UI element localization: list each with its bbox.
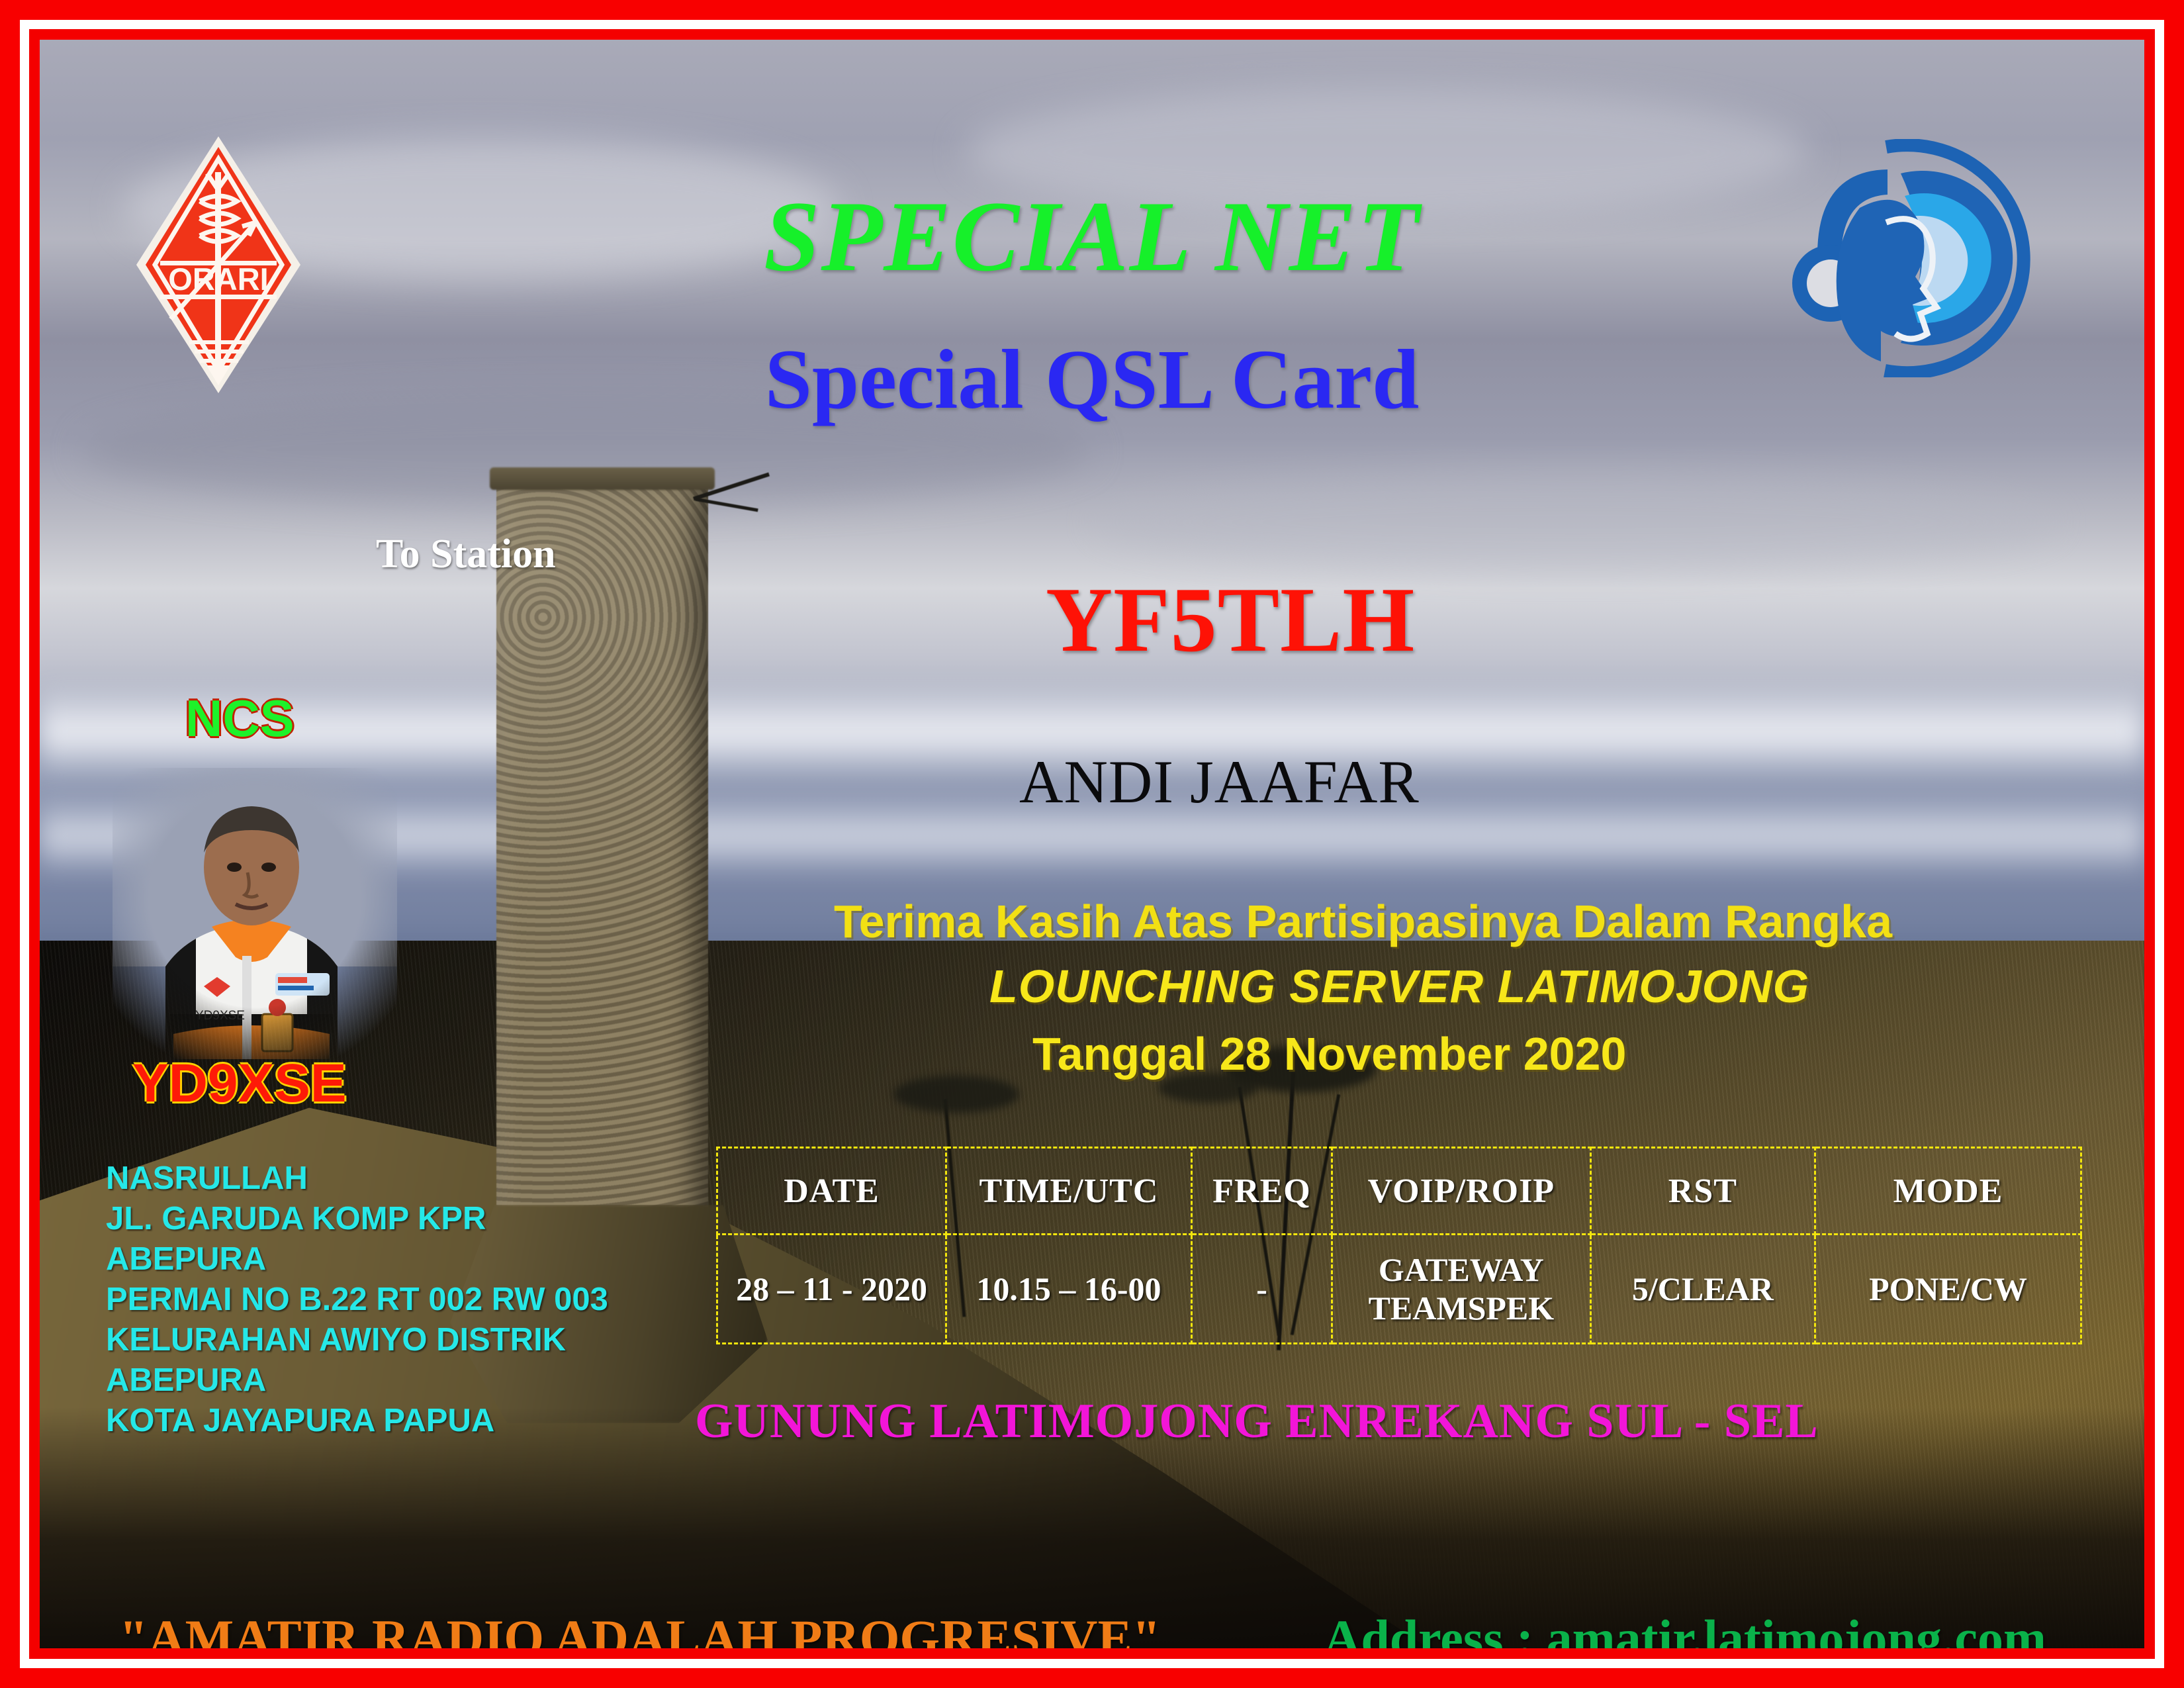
cloud-streak-icon xyxy=(1092,474,2060,571)
column-header-mode: MODE xyxy=(1815,1148,2081,1235)
thanks-line-2: LOUNCHING SERVER LATIMOJONG xyxy=(989,960,1809,1013)
address-line: PERMAI NO B.22 RT 002 RW 003 xyxy=(106,1280,608,1320)
address-block: NASRULLAH JL. GARUDA KOMP KPR ABEPURA PE… xyxy=(106,1158,608,1441)
address-line: ABEPURA xyxy=(106,1239,608,1280)
qso-log-table: DATE TIME/UTC FREQ VOIP/ROIP RST MODE 28… xyxy=(716,1147,2082,1344)
footer-slogan: "AMATIR RADIO ADALAH PROGRESIVE" xyxy=(119,1609,1161,1648)
qsl-card-outer-border: ORARI xyxy=(0,0,2184,1688)
station-callsign: YF5TLH xyxy=(1046,567,1415,673)
uniform-callsign-text: YD9XSE xyxy=(195,1009,245,1023)
operator-name: ANDI JAAFAR xyxy=(1019,747,1420,817)
thanks-line-3: Tanggal 28 November 2020 xyxy=(1032,1027,1626,1080)
to-station-label: To Station xyxy=(376,531,556,578)
qsl-card-inner-border: ORARI xyxy=(29,29,2155,1659)
qsl-card-white-gap: ORARI xyxy=(20,20,2164,1668)
cell-voip-roip-line2: TEAMSPEK xyxy=(1334,1289,1588,1327)
stone-pillar xyxy=(496,477,708,1258)
page-title: SPECIAL NET xyxy=(40,179,2144,294)
column-header-rst: RST xyxy=(1590,1148,1815,1235)
address-line: JL. GARUDA KOMP KPR xyxy=(106,1199,608,1239)
column-header-voip-roip: VOIP/ROIP xyxy=(1332,1148,1590,1235)
ncs-label: NCS xyxy=(185,688,295,749)
tree-canopy xyxy=(893,1076,1019,1113)
location-caption: GUNUNG LATIMOJONG ENREKANG SUL - SEL xyxy=(695,1393,1819,1450)
table-row: 28 – 11 - 2020 10.15 – 16-00 - GATEWAY T… xyxy=(717,1235,2081,1344)
cell-voip-roip-line1: GATEWAY xyxy=(1334,1250,1588,1289)
address-line: KOTA JAYAPURA PAPUA xyxy=(106,1401,608,1441)
footer-web-address: Address : amatir.latimojong.com xyxy=(1324,1609,2046,1648)
cell-date: 28 – 11 - 2020 xyxy=(717,1235,946,1344)
cell-voip-roip: GATEWAY TEAMSPEK xyxy=(1332,1235,1590,1344)
address-line: NASRULLAH xyxy=(106,1158,608,1199)
column-header-date: DATE xyxy=(717,1148,946,1235)
cell-rst: 5/CLEAR xyxy=(1590,1235,1815,1344)
address-line: ABEPURA xyxy=(106,1360,608,1401)
column-header-freq: FREQ xyxy=(1191,1148,1332,1235)
qsl-card-photo-background: ORARI xyxy=(40,40,2144,1648)
ncs-operator-photo: YD9XSE xyxy=(113,768,397,1059)
thanks-line-1: Terima Kasih Atas Partisipasinya Dalam R… xyxy=(834,895,1892,948)
address-line: KELURAHAN AWIYO DISTRIK xyxy=(106,1320,608,1360)
ncs-callsign: YD9XSE xyxy=(132,1053,347,1115)
page-subtitle: Special QSL Card xyxy=(40,331,2144,428)
cell-time: 10.15 – 16-00 xyxy=(946,1235,1192,1344)
column-header-time: TIME/UTC xyxy=(946,1148,1192,1235)
cell-mode: PONE/CW xyxy=(1815,1235,2081,1344)
cell-freq: - xyxy=(1191,1235,1332,1344)
table-header-row: DATE TIME/UTC FREQ VOIP/ROIP RST MODE xyxy=(717,1148,2081,1235)
